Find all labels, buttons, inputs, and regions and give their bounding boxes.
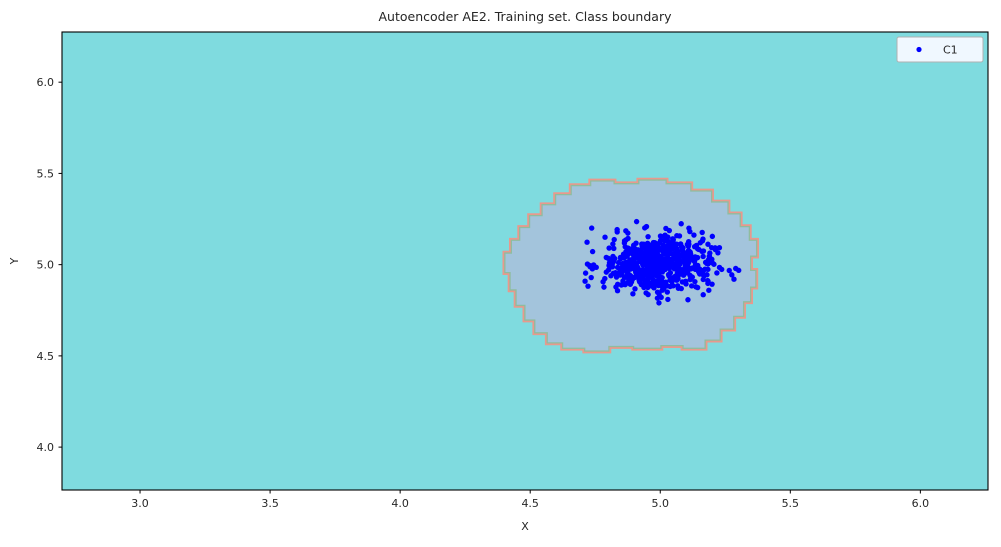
x-axis-label: X bbox=[521, 520, 529, 533]
scatter-point bbox=[642, 225, 647, 230]
scatter-point bbox=[714, 270, 719, 275]
scatter-point bbox=[612, 237, 617, 242]
scatter-point bbox=[665, 243, 670, 248]
scatter-point bbox=[649, 247, 654, 252]
x-tick-label: 4.0 bbox=[391, 497, 409, 510]
scatter-point bbox=[659, 295, 664, 300]
scatter-point bbox=[665, 289, 670, 294]
figure-canvas: 3.03.54.04.55.05.56.0 4.04.55.05.56.0 Au… bbox=[0, 0, 1001, 547]
scatter-point bbox=[699, 249, 704, 254]
scatter-point bbox=[701, 277, 706, 282]
scatter-point bbox=[649, 283, 654, 288]
scatter-point bbox=[641, 257, 646, 262]
scatter-point bbox=[614, 227, 619, 232]
scatter-point bbox=[606, 256, 611, 261]
scatter-point bbox=[655, 273, 660, 278]
scatter-point bbox=[691, 232, 696, 237]
scatter-point bbox=[677, 266, 682, 271]
scatter-point bbox=[675, 261, 680, 266]
scatter-point bbox=[656, 248, 661, 253]
scatter-point bbox=[700, 254, 705, 259]
scatter-point bbox=[606, 263, 611, 268]
scatter-point bbox=[623, 228, 628, 233]
scatter-point bbox=[669, 279, 674, 284]
scatter-point bbox=[674, 256, 679, 261]
x-tick-label: 4.5 bbox=[521, 497, 539, 510]
scatter-point bbox=[619, 282, 624, 287]
scatter-point bbox=[645, 292, 650, 297]
scatter-point bbox=[611, 246, 616, 251]
scatter-point bbox=[701, 292, 706, 297]
scatter-point bbox=[656, 283, 661, 288]
legend-entry-label: C1 bbox=[943, 44, 958, 57]
scatter-point bbox=[630, 291, 635, 296]
scatter-point bbox=[637, 278, 642, 283]
scatter-point bbox=[620, 261, 625, 266]
scatter-point bbox=[674, 273, 679, 278]
scatter-point bbox=[625, 262, 630, 267]
scatter-point bbox=[645, 241, 650, 246]
scatter-point bbox=[731, 277, 736, 282]
scatter-point bbox=[717, 265, 722, 270]
scatter-point bbox=[585, 261, 590, 266]
scatter-point bbox=[683, 258, 688, 263]
scatter-point bbox=[674, 246, 679, 251]
scatter-point bbox=[711, 262, 716, 267]
scatter-point bbox=[686, 225, 691, 230]
x-tick-label: 5.5 bbox=[782, 497, 800, 510]
scatter-point bbox=[685, 297, 690, 302]
scatter-point bbox=[622, 238, 627, 243]
scatter-point bbox=[665, 251, 670, 256]
scatter-point bbox=[686, 239, 691, 244]
scatter-point bbox=[665, 297, 670, 302]
scatter-point bbox=[611, 259, 616, 264]
scatter-point bbox=[709, 281, 714, 286]
legend[interactable]: C1 bbox=[897, 37, 983, 62]
scatter-point bbox=[692, 279, 697, 284]
scatter-point bbox=[688, 249, 693, 254]
scatter-point bbox=[590, 266, 595, 271]
scatter-point bbox=[632, 246, 637, 251]
scatter-point bbox=[681, 279, 686, 284]
scatter-point bbox=[670, 238, 675, 243]
scatter-point bbox=[652, 241, 657, 246]
scatter-point bbox=[694, 243, 699, 248]
scatter-point bbox=[583, 270, 588, 275]
scatter-point bbox=[706, 288, 711, 293]
y-tick-label: 4.0 bbox=[37, 441, 55, 454]
y-tick-label: 6.0 bbox=[37, 76, 55, 89]
scatter-point bbox=[694, 255, 699, 260]
x-tick-label: 3.5 bbox=[261, 497, 279, 510]
scatter-point bbox=[688, 274, 693, 279]
scatter-point bbox=[702, 266, 707, 271]
scatter-point bbox=[632, 267, 637, 272]
scatter-point bbox=[668, 263, 673, 268]
scatter-point bbox=[648, 268, 653, 273]
scatter-point bbox=[710, 234, 715, 239]
scatter-point bbox=[626, 279, 631, 284]
x-tick-label: 3.0 bbox=[131, 497, 149, 510]
scatter-point bbox=[639, 241, 644, 246]
scatter-point bbox=[656, 300, 661, 305]
scatter-point bbox=[601, 284, 606, 289]
scatter-point bbox=[633, 241, 638, 246]
scatter-point bbox=[695, 285, 700, 290]
y-tick-label: 4.5 bbox=[37, 350, 55, 363]
scatter-point bbox=[621, 251, 626, 256]
scatter-point bbox=[658, 233, 663, 238]
x-tick-label: 5.0 bbox=[652, 497, 670, 510]
scatter-point bbox=[668, 270, 673, 275]
scatter-point bbox=[727, 268, 732, 273]
scatter-point bbox=[584, 240, 589, 245]
y-tick-label: 5.5 bbox=[37, 167, 55, 180]
scatter-point bbox=[604, 269, 609, 274]
scatter-point bbox=[589, 275, 594, 280]
scatter-point bbox=[585, 283, 590, 288]
scatter-point bbox=[689, 283, 694, 288]
x-tick-label: 6.0 bbox=[912, 497, 930, 510]
scatter-point bbox=[683, 250, 688, 255]
scatter-point bbox=[663, 226, 668, 231]
scatter-point bbox=[632, 286, 637, 291]
scatter-point bbox=[686, 244, 691, 249]
scatter-point bbox=[679, 221, 684, 226]
scatter-point bbox=[634, 219, 639, 224]
legend-marker-icon bbox=[916, 47, 921, 52]
scatter-point bbox=[665, 234, 670, 239]
scatter-point bbox=[660, 280, 665, 285]
axes-area bbox=[62, 32, 988, 490]
matplotlib-figure: 3.03.54.04.55.05.56.0 4.04.55.05.56.0 Au… bbox=[0, 0, 1001, 547]
scatter-point bbox=[704, 272, 709, 277]
scatter-point bbox=[642, 277, 647, 282]
page-title: Autoencoder AE2. Training set. Class bou… bbox=[378, 9, 672, 24]
scatter-point bbox=[615, 288, 620, 293]
scatter-point bbox=[680, 245, 685, 250]
scatter-point bbox=[602, 276, 607, 281]
scatter-point bbox=[644, 247, 649, 252]
scatter-point bbox=[614, 274, 619, 279]
scatter-point bbox=[709, 245, 714, 250]
legend-box bbox=[897, 37, 983, 62]
scatter-point bbox=[623, 244, 628, 249]
scatter-point bbox=[624, 275, 629, 280]
scatter-point bbox=[700, 230, 705, 235]
scatter-point bbox=[582, 279, 587, 284]
scatter-point bbox=[693, 262, 698, 267]
scatter-point bbox=[658, 263, 663, 268]
scatter-point bbox=[624, 268, 629, 273]
scatter-point bbox=[590, 249, 595, 254]
y-axis-label: Y bbox=[8, 257, 21, 265]
scatter-point bbox=[606, 245, 611, 250]
scatter-point bbox=[707, 254, 712, 259]
scatter-point bbox=[682, 266, 687, 271]
scatter-point bbox=[656, 254, 661, 259]
scatter-point bbox=[602, 235, 607, 240]
scatter-point bbox=[645, 234, 650, 239]
y-tick-label: 5.0 bbox=[37, 259, 55, 272]
scatter-point bbox=[733, 266, 738, 271]
scatter-point bbox=[619, 269, 624, 274]
scatter-point bbox=[589, 225, 594, 230]
scatter-point bbox=[666, 257, 671, 262]
